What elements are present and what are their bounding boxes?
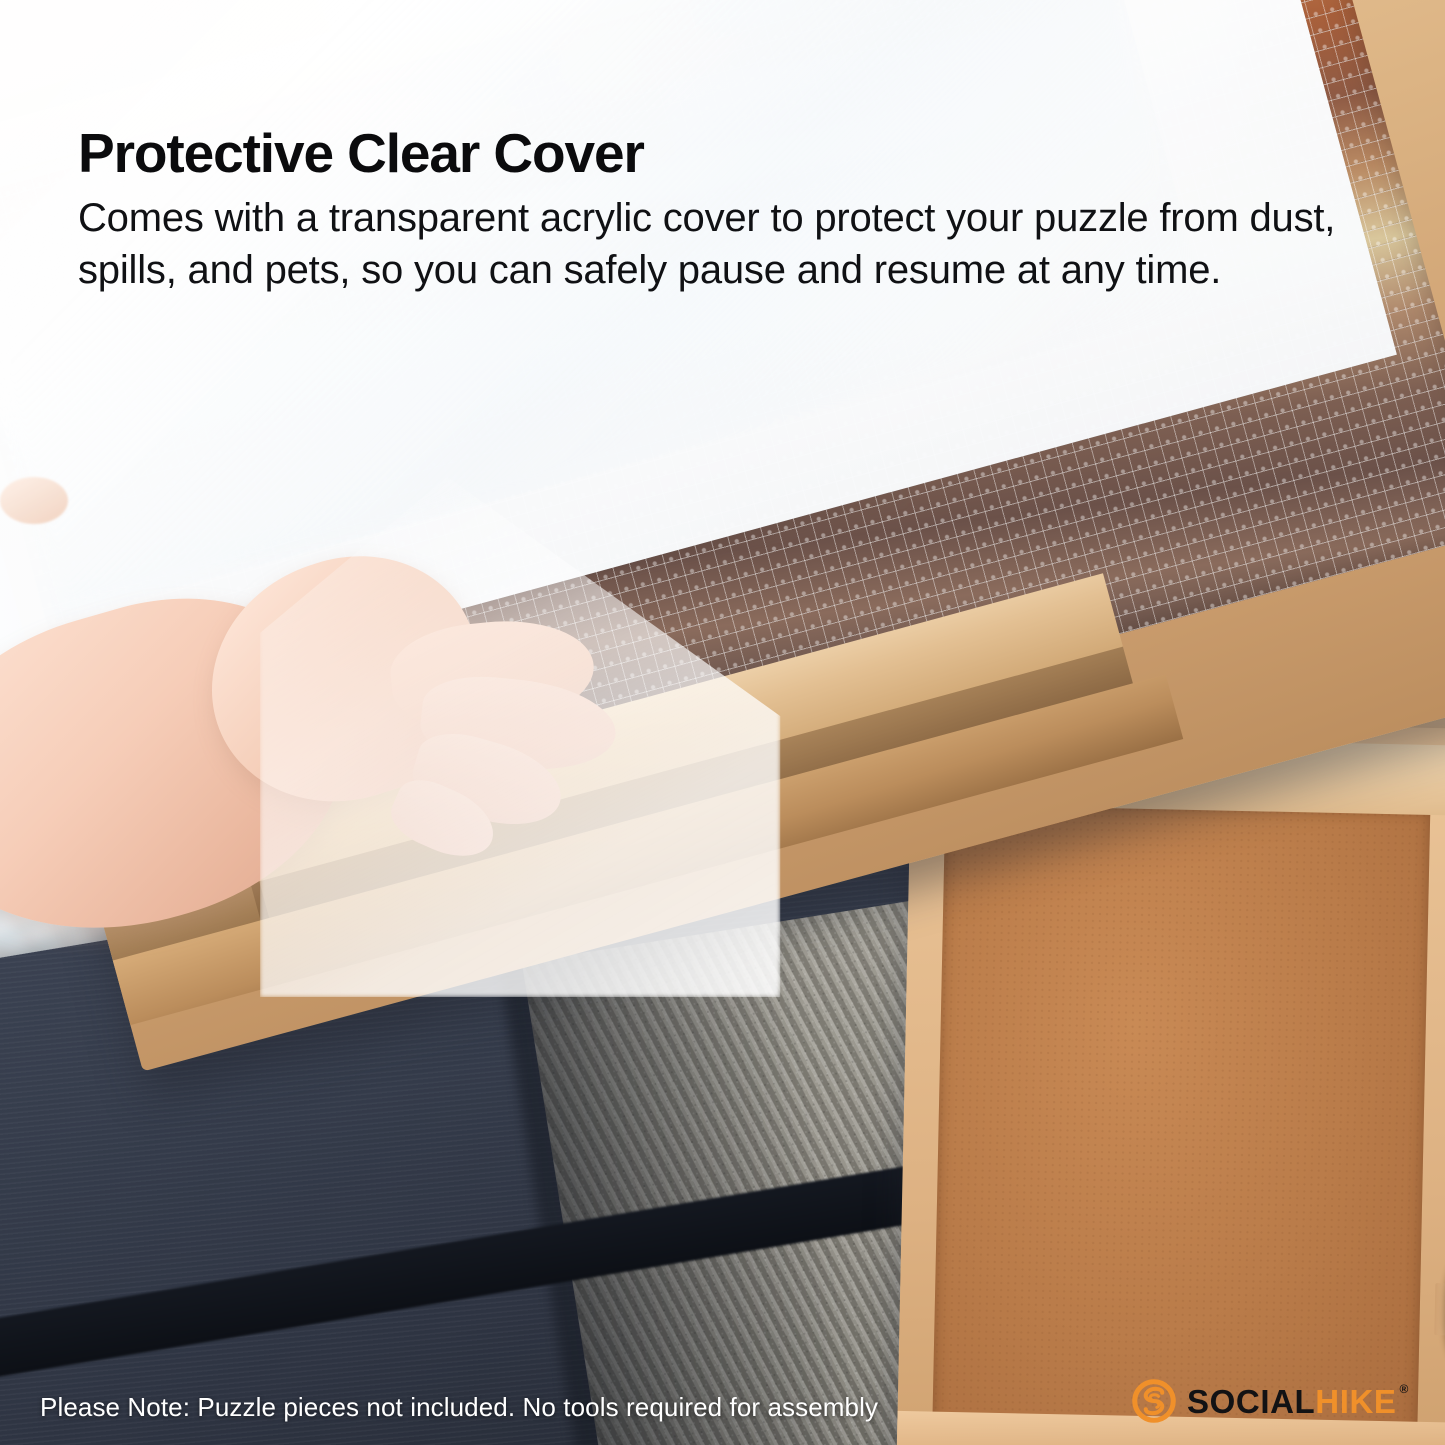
- socialhike-spiral-s-icon: [1132, 1379, 1176, 1423]
- logo-word-hike: HIKE: [1315, 1385, 1396, 1418]
- drawer-felt-interior: [932, 795, 1431, 1445]
- drawer-felt-texture: [932, 795, 1431, 1445]
- logo-word-social: SOCIAL: [1187, 1385, 1315, 1418]
- logo-wordmark: SOCIAL HIKE ®: [1187, 1385, 1409, 1418]
- disclaimer-note: Please Note: Puzzle pieces not included.…: [40, 1392, 878, 1423]
- product-feature-image: Protective Clear Cover Comes with a tran…: [0, 0, 1445, 1445]
- feature-copy-block: Protective Clear Cover Comes with a tran…: [78, 124, 1398, 296]
- brand-logo: SOCIAL HIKE ®: [1132, 1379, 1409, 1423]
- hand-thumbnail: [0, 477, 68, 524]
- feature-subtitle: Comes with a transparent acrylic cover t…: [78, 192, 1398, 296]
- drawer-knob-neck: [1434, 1282, 1445, 1334]
- registered-trademark-symbol: ®: [1400, 1383, 1409, 1395]
- page-title: Protective Clear Cover: [78, 124, 1398, 182]
